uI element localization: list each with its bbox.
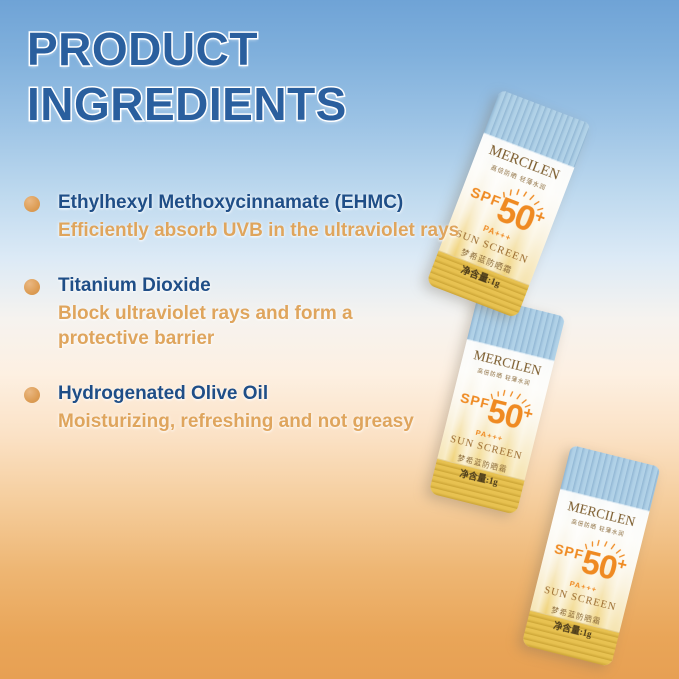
ingredient-description: Efficiently absorb UVB in the ultraviole… — [58, 218, 542, 243]
brand-subtitle: 高倍防晒 轻薄水润 — [552, 513, 643, 543]
pa-rating: PA+++ — [538, 571, 629, 602]
page-title-line-2: INGREDIENTS — [27, 77, 347, 132]
product-ingredients-poster: PRODUCT INGREDIENTS Ethylhexyl Methoxyci… — [0, 0, 679, 679]
sachet-bottom-crimp — [521, 610, 619, 667]
ingredient-name: Ethylhexyl Methoxycinnamate (EHMC) — [58, 190, 542, 216]
spf-label: SPF — [553, 540, 586, 563]
ingredient-list: Ethylhexyl Methoxycinnamate (EHMC) Effic… — [22, 190, 542, 434]
net-weight: 净含量:1g — [527, 612, 619, 647]
sachet-top-crimp — [560, 445, 660, 512]
bullet-dot-icon — [24, 279, 40, 295]
spf-plus-sign: + — [615, 555, 629, 575]
product-type: SUN SCREEN — [534, 583, 626, 616]
sachet-body: MERCILEN 高倍防晒 轻薄水润 SPF50+ PA+++ SUN SCRE… — [521, 445, 660, 667]
page-title: PRODUCT INGREDIENTS — [27, 22, 347, 132]
sunburst-icon — [583, 537, 629, 562]
spf-rating: SPF50+ — [540, 533, 638, 592]
list-item: Titanium Dioxide Block ultraviolet rays … — [22, 273, 542, 351]
product-name-cn: 梦希蓝防晒霜 — [530, 599, 622, 632]
bullet-dot-icon — [24, 387, 40, 403]
sachet-top-crimp — [484, 90, 591, 168]
product-sachet-bottom: MERCILEN 高倍防晒 轻薄水润 SPF50+ PA+++ SUN SCRE… — [521, 445, 660, 667]
list-item: Hydrogenated Olive Oil Moisturizing, ref… — [22, 381, 542, 434]
product-type: SUN SCREEN — [441, 432, 531, 464]
brand-name: MERCILEN — [476, 138, 573, 189]
bullet-dot-icon — [24, 196, 40, 212]
brand-name: MERCILEN — [555, 495, 648, 533]
ingredient-description: Block ultraviolet rays and form a protec… — [58, 301, 388, 351]
page-title-line-1: PRODUCT — [27, 22, 347, 77]
spf-value: 50 — [578, 542, 621, 586]
sachet-bottom-crimp — [429, 458, 525, 514]
ingredient-description: Moisturizing, refreshing and not greasy — [58, 409, 542, 434]
product-name-cn: 梦希蓝防晒霜 — [437, 448, 527, 480]
ingredient-name: Titanium Dioxide — [58, 273, 542, 299]
net-weight: 净含量:1g — [434, 460, 524, 494]
list-item: Ethylhexyl Methoxycinnamate (EHMC) Effic… — [22, 190, 542, 243]
ingredient-name: Hydrogenated Olive Oil — [58, 381, 542, 407]
